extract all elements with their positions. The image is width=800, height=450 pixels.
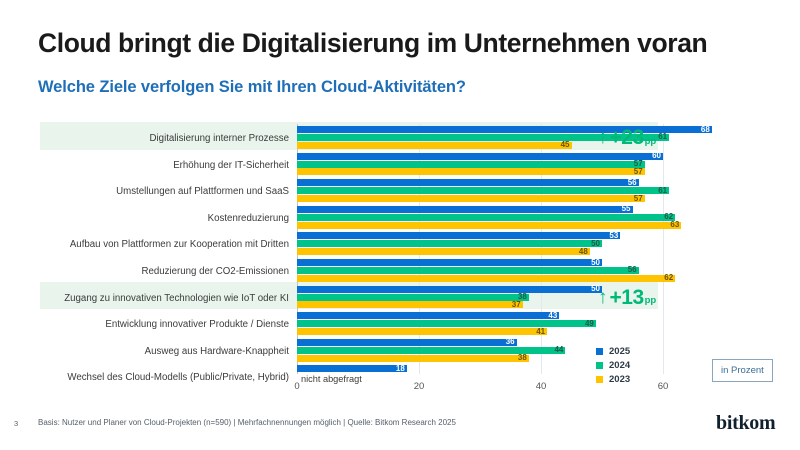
legend-swatch-icon bbox=[596, 376, 603, 383]
legend-label: 2025 bbox=[609, 346, 630, 357]
legend-item-2025[interactable]: 2025 bbox=[596, 344, 630, 358]
bar-2025: 50 bbox=[297, 259, 602, 266]
category-label: Wechsel des Cloud-Modells (Public/Privat… bbox=[29, 372, 289, 383]
change-value: +13 bbox=[610, 287, 644, 308]
category-label: Zugang zu innovativen Technologien wie I… bbox=[29, 293, 289, 304]
bar-2025: 36 bbox=[297, 339, 517, 346]
bar-value-label: 56 bbox=[628, 265, 637, 274]
bar-value-label: 43 bbox=[548, 311, 557, 320]
change-unit: pp bbox=[645, 296, 657, 308]
bar-value-label: 62 bbox=[664, 273, 673, 282]
bar-2023: 57 bbox=[297, 195, 645, 202]
category-label: Entwicklung innovativer Produkte / Diens… bbox=[29, 319, 289, 330]
bar-2024: 61 bbox=[297, 187, 669, 194]
change-unit: pp bbox=[645, 137, 657, 149]
legend-swatch-icon bbox=[596, 348, 603, 355]
bar-value-label: 38 bbox=[518, 353, 527, 362]
bar-2023: 62 bbox=[297, 275, 675, 282]
slide-root: Cloud bringt die Digitalisierung im Unte… bbox=[0, 0, 800, 450]
axis-tick-label: 40 bbox=[536, 381, 547, 392]
category-label: Digitalisierung interner Prozesse bbox=[29, 133, 289, 144]
bar-value-label: 49 bbox=[585, 319, 594, 328]
bar-value-label: 53 bbox=[609, 231, 618, 240]
source-note: Basis: Nutzer und Planer von Cloud-Proje… bbox=[38, 418, 456, 427]
bar-2023: 37 bbox=[297, 301, 523, 308]
bar-chart: Digitalisierung interner Prozesse686145E… bbox=[0, 120, 800, 385]
category-label: Reduzierung der CO2-Emissionen bbox=[29, 266, 289, 277]
bar-2024: 62 bbox=[297, 214, 675, 221]
bar-value-label: 37 bbox=[512, 300, 521, 309]
bar-2025: 60 bbox=[297, 153, 663, 160]
bar-2024: 38 bbox=[297, 294, 529, 301]
legend-label: 2023 bbox=[609, 374, 630, 385]
bar-value-label: 60 bbox=[652, 151, 661, 160]
gridline bbox=[663, 124, 664, 374]
bar-value-label: 44 bbox=[554, 345, 563, 354]
bar-value-label: 36 bbox=[506, 337, 515, 346]
bar-value-label: 61 bbox=[658, 132, 667, 141]
category-label: Aufbau von Plattformen zur Kooperation m… bbox=[29, 239, 289, 250]
bar-2025: 55 bbox=[297, 206, 633, 213]
bar-2024: 56 bbox=[297, 267, 639, 274]
bar-2025: 43 bbox=[297, 312, 559, 319]
bar-value-label: 48 bbox=[579, 247, 588, 256]
bar-2025: 50 bbox=[297, 286, 602, 293]
arrow-up-icon: ↑ bbox=[598, 288, 608, 307]
bar-value-label: 56 bbox=[628, 178, 637, 187]
category-label: Ausweg aus Hardware-Knappheit bbox=[29, 346, 289, 357]
axis-tick-label: 20 bbox=[414, 381, 425, 392]
page-subtitle: Welche Ziele verfolgen Sie mit Ihren Clo… bbox=[38, 78, 466, 97]
page-title: Cloud bringt die Digitalisierung im Unte… bbox=[38, 28, 707, 59]
bar-2023: 41 bbox=[297, 328, 547, 335]
bitkom-logo: bitkom bbox=[716, 412, 775, 435]
bar-value-label: 61 bbox=[658, 186, 667, 195]
bar-2023: 57 bbox=[297, 168, 645, 175]
category-label: Erhöhung der IT-Sicherheit bbox=[29, 160, 289, 171]
bar-2025: 56 bbox=[297, 179, 639, 186]
bar-value-label: 57 bbox=[634, 167, 643, 176]
unit-badge: in Prozent bbox=[712, 359, 773, 382]
axis-tick-label: 0 bbox=[294, 381, 299, 392]
bar-2025: 53 bbox=[297, 232, 620, 239]
change-value: +23 bbox=[610, 127, 644, 148]
category-label: Kostenreduzierung bbox=[29, 213, 289, 224]
chart-legend: 202520242023 bbox=[596, 344, 630, 386]
bar-value-label: 57 bbox=[634, 194, 643, 203]
category-label: Umstellungen auf Plattformen und SaaS bbox=[29, 186, 289, 197]
not-asked-note: nicht abgefragt bbox=[301, 374, 362, 384]
bar-value-label: 63 bbox=[670, 220, 679, 229]
bar-2024: 57 bbox=[297, 161, 645, 168]
bar-2024: 49 bbox=[297, 320, 596, 327]
change-annotation: ↑+23pp bbox=[598, 127, 656, 148]
bar-2023: 38 bbox=[297, 355, 529, 362]
bar-value-label: 55 bbox=[622, 204, 631, 213]
axis-tick-label: 60 bbox=[658, 381, 669, 392]
bar-value-label: 50 bbox=[591, 258, 600, 267]
bar-2023: 45 bbox=[297, 142, 572, 149]
arrow-up-icon: ↑ bbox=[598, 128, 608, 147]
bar-2023: 63 bbox=[297, 222, 681, 229]
change-annotation: ↑+13pp bbox=[598, 287, 656, 308]
bar-2025: 18 bbox=[297, 365, 407, 372]
bar-value-label: 50 bbox=[591, 239, 600, 248]
bar-value-label: 18 bbox=[396, 364, 405, 373]
legend-item-2023[interactable]: 2023 bbox=[596, 372, 630, 386]
legend-item-2024[interactable]: 2024 bbox=[596, 358, 630, 372]
legend-swatch-icon bbox=[596, 362, 603, 369]
legend-label: 2024 bbox=[609, 360, 630, 371]
page-number: 3 bbox=[14, 419, 18, 428]
bar-value-label: 68 bbox=[701, 125, 710, 134]
bar-value-label: 41 bbox=[536, 327, 545, 336]
bar-value-label: 45 bbox=[561, 140, 570, 149]
bar-2024: 50 bbox=[297, 240, 602, 247]
bar-2023: 48 bbox=[297, 248, 590, 255]
